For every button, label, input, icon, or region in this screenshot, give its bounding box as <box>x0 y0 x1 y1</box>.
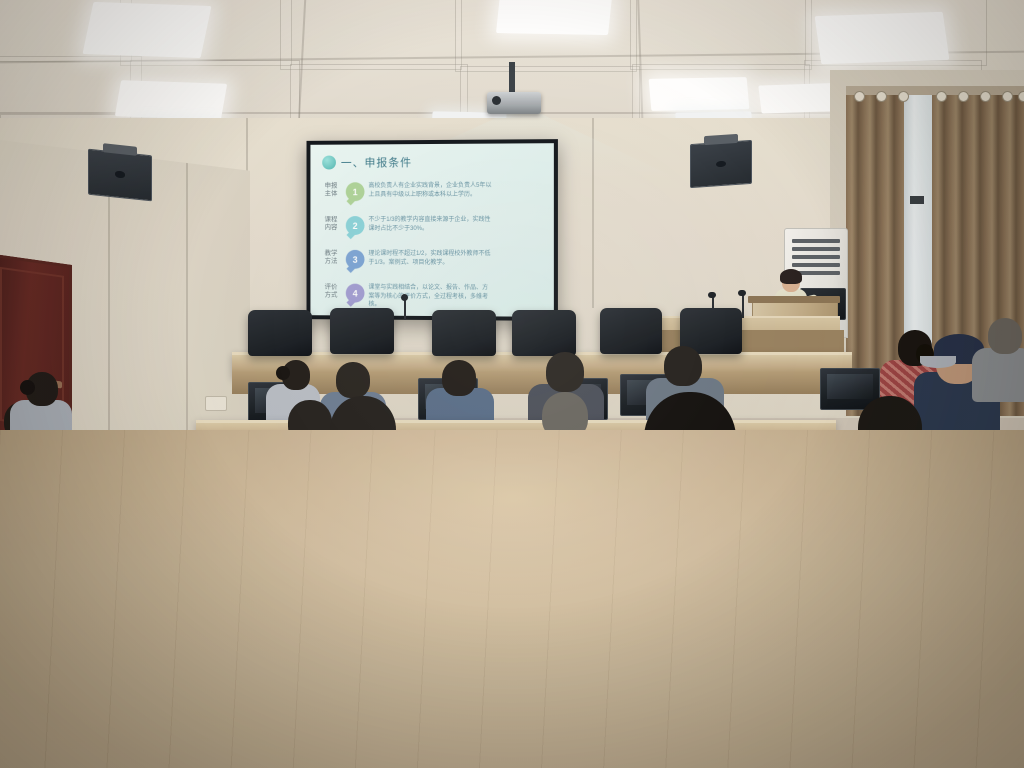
ceiling-light <box>496 0 612 35</box>
slide-row-label-line1: 课程 <box>320 216 342 224</box>
slide-row-label-line1: 教学 <box>320 250 342 258</box>
slide-row-label-line2: 主体 <box>320 190 342 198</box>
attendee-head <box>442 360 476 396</box>
slide-row-label-line2: 内容 <box>320 224 342 232</box>
slide-row: 教学 方法 3 理论课时程不超过1/2，实践课程校外教师不低于1/3。案例式、项… <box>320 250 493 269</box>
slide-row-label-line2: 方式 <box>320 291 342 299</box>
slide-surface: 一、申报条件 申报 主体 1 高校负责人有企业实践背景，企业负责人5年以上且具有… <box>310 143 553 317</box>
ceiling-light <box>649 77 750 111</box>
slide-row-text: 课堂与实践相结合，以论文、报告、作品、方案等为核心的评价方式，全过程考核，多维考… <box>368 284 493 310</box>
window-mullion <box>910 196 924 204</box>
ceiling-light <box>815 12 950 64</box>
speaker-driver-icon <box>115 171 125 178</box>
slide-row-number: 4 <box>346 284 365 303</box>
slide-title: 一、申报条件 <box>341 154 412 170</box>
presenter-hair <box>780 269 802 284</box>
curtain-rail <box>846 86 1024 95</box>
projection-screen: 一、申报条件 申报 主体 1 高校负责人有企业实践背景，企业负责人5年以上且具有… <box>307 139 558 321</box>
slide-row-number: 3 <box>346 250 365 269</box>
hair-bun <box>20 380 35 395</box>
teal-circle-icon <box>322 156 336 170</box>
projector-lens-icon <box>492 96 501 105</box>
table-microphone <box>404 298 406 320</box>
microphone-capsule-icon <box>738 290 746 296</box>
microphone-capsule-icon <box>708 292 716 298</box>
slide-row: 课程 内容 2 不少于1/3的教学内容直接来源于企业，实践性课时占比不少于30%… <box>320 216 493 235</box>
slide-row-label-line2: 方法 <box>320 258 342 266</box>
slide-row-label: 申报 主体 <box>320 182 342 198</box>
hair-bun <box>276 366 290 380</box>
slide-title-row: 一、申报条件 <box>322 154 412 170</box>
slide-row-label-line1: 评价 <box>320 284 342 292</box>
wall-outlet[interactable] <box>205 396 227 411</box>
chair[interactable] <box>600 308 662 354</box>
chair[interactable] <box>432 310 496 356</box>
slide-row: 申报 主体 1 高校负责人有企业实践背景，企业负责人5年以上且具有中级以上职称或… <box>320 182 493 201</box>
chair[interactable] <box>512 310 576 356</box>
attendee-head <box>988 318 1022 354</box>
ceiling-light <box>115 80 227 120</box>
slide-row-number: 1 <box>346 182 365 201</box>
podium-top <box>748 296 840 303</box>
ceiling-light <box>82 2 211 58</box>
floor-shading <box>0 430 1024 768</box>
microphone-capsule-icon <box>401 294 408 301</box>
slide-row-text: 不少于1/3的教学内容直接来源于企业，实践性课时占比不少于30%。 <box>368 216 493 233</box>
slide-row-label: 教学 方法 <box>320 250 342 266</box>
gooseneck-microphone <box>742 294 744 318</box>
slide-row-label: 评价 方式 <box>320 284 342 300</box>
chair[interactable] <box>248 310 312 356</box>
cap-brim <box>920 356 956 368</box>
attendee-head <box>336 362 370 398</box>
chair[interactable] <box>330 308 394 354</box>
slide-row-label-line1: 申报 <box>320 182 342 190</box>
attendee-head <box>546 352 584 392</box>
speaker-bracket-icon <box>704 134 738 145</box>
slide-row-text: 高校负责人有企业实践背景，企业负责人5年以上且具有中级以上职称或本科以上学历。 <box>368 182 493 199</box>
wall-speaker-right <box>690 140 752 188</box>
attendee-torso <box>972 348 1024 402</box>
slide-row-number: 2 <box>346 216 365 235</box>
slide-row-text: 理论课时程不超过1/2，实践课程校外教师不低于1/3。案例式、项目化教学。 <box>368 250 493 267</box>
wall-speaker-left <box>88 149 152 202</box>
speaker-driver-icon <box>716 160 726 167</box>
attendee-head <box>664 346 702 386</box>
classroom-scene: 一、申报条件 申报 主体 1 高校负责人有企业实践背景，企业负责人5年以上且具有… <box>0 0 1024 768</box>
slide-row-label: 课程 内容 <box>320 216 342 232</box>
